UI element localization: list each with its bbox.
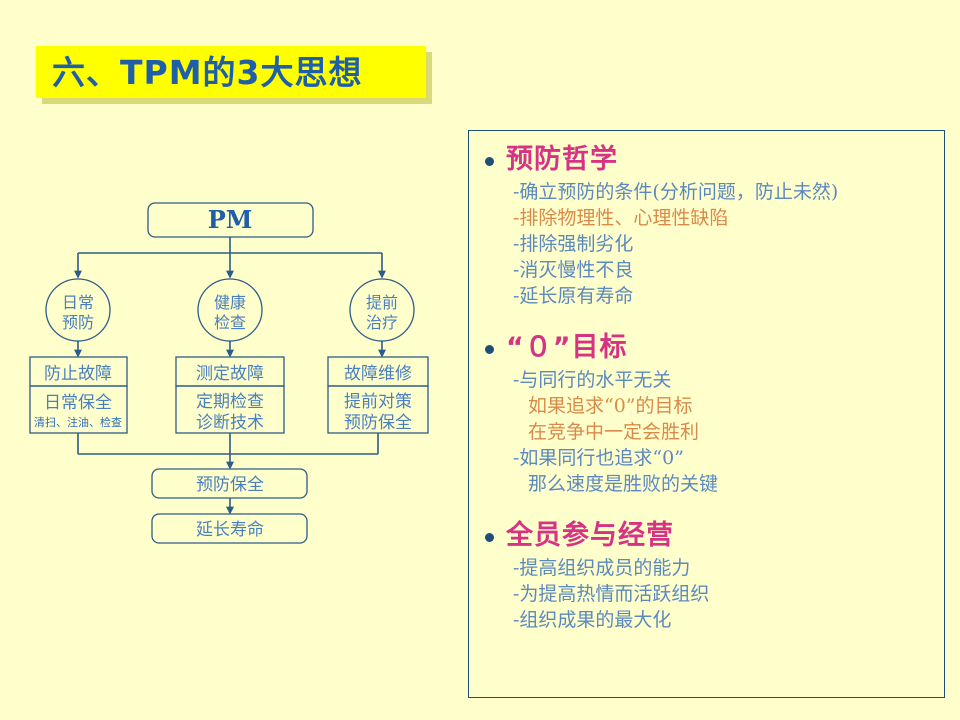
node-col3-body-line1: 提前对策	[344, 392, 412, 412]
page-title: 六、TPM的3大思想	[52, 50, 432, 96]
node-col2-body-line2: 诊断技术	[196, 413, 264, 433]
list-item: 那么速度是胜败的关键	[513, 471, 938, 497]
list-item: -排除物理性、心理性缺陷	[513, 205, 938, 231]
bullet-icon	[485, 157, 494, 166]
section-total-participation: 全员参与经营 -提高组织成员的能力 -为提高热情而活跃组织 -组织成果的最大化	[477, 519, 938, 633]
list-item: 在竞争中一定会胜利	[513, 419, 938, 445]
section-item-list: -与同行的水平无关 如果追求“0”的目标 在竞争中一定会胜利 -如果同行也追求“…	[477, 367, 938, 497]
list-item: -为提高热情而活跃组织	[513, 581, 938, 607]
section-header: 全员参与经营	[477, 519, 938, 553]
node-pm-label: PM	[208, 205, 253, 234]
section-item-list: -确立预防的条件(分析问题，防止未然) -排除物理性、心理性缺陷 -排除强制劣化…	[477, 179, 938, 309]
node-col1-header-label: 防止故障	[44, 364, 112, 384]
node-col2-body-line1: 定期检查	[196, 392, 264, 412]
section-prevention-philosophy: 预防哲学 -确立预防的条件(分析问题，防止未然) -排除物理性、心理性缺陷 -排…	[477, 143, 938, 309]
node-col1-small-line: 清扫、注油、检查	[34, 415, 122, 429]
section-header: “０”目标	[477, 331, 938, 365]
list-item: -如果同行也追求“0”	[513, 445, 938, 471]
bullet-icon	[485, 533, 494, 542]
list-item: -消灭慢性不良	[513, 257, 938, 283]
section-title: 全员参与经营	[506, 519, 674, 553]
tpm-flowchart: PM 日常 预防 健康 检查 提前 治疗 防止故障 日常保全 清扫、注油、检查 …	[0, 120, 460, 580]
node-ellipse-3-line1: 提前	[366, 293, 398, 312]
list-item: -与同行的水平无关	[513, 367, 938, 393]
list-item: -提高组织成员的能力	[513, 555, 938, 581]
list-item: -延长原有寿命	[513, 283, 938, 309]
node-ellipse-1-line2: 预防	[62, 313, 94, 332]
node-col1-body-line1: 日常保全	[44, 393, 112, 413]
section-header: 预防哲学	[477, 143, 938, 177]
bullet-icon	[485, 345, 494, 354]
section-title: “０”目标	[506, 331, 628, 365]
section-zero-target: “０”目标 -与同行的水平无关 如果追求“0”的目标 在竞争中一定会胜利 -如果…	[477, 331, 938, 497]
node-merge-box-2-label: 延长寿命	[196, 520, 264, 540]
node-ellipse-3-line2: 治疗	[366, 313, 398, 332]
section-item-list: -提高组织成员的能力 -为提高热情而活跃组织 -组织成果的最大化	[477, 555, 938, 633]
node-col3-header-label: 故障维修	[344, 364, 412, 384]
concepts-panel: 预防哲学 -确立预防的条件(分析问题，防止未然) -排除物理性、心理性缺陷 -排…	[468, 130, 945, 698]
node-ellipse-2-line2: 检查	[214, 313, 246, 332]
list-item: -确立预防的条件(分析问题，防止未然)	[513, 179, 938, 205]
node-merge-box-1-label: 预防保全	[196, 475, 264, 495]
node-ellipse-1-line1: 日常	[62, 293, 94, 312]
list-item: -组织成果的最大化	[513, 607, 938, 633]
section-title: 预防哲学	[506, 143, 618, 177]
list-item: -排除强制劣化	[513, 231, 938, 257]
node-col2-header-label: 测定故障	[196, 364, 264, 384]
list-item: 如果追求“0”的目标	[513, 393, 938, 419]
node-col3-body-line2: 预防保全	[344, 413, 412, 433]
node-ellipse-2-line1: 健康	[214, 293, 246, 312]
